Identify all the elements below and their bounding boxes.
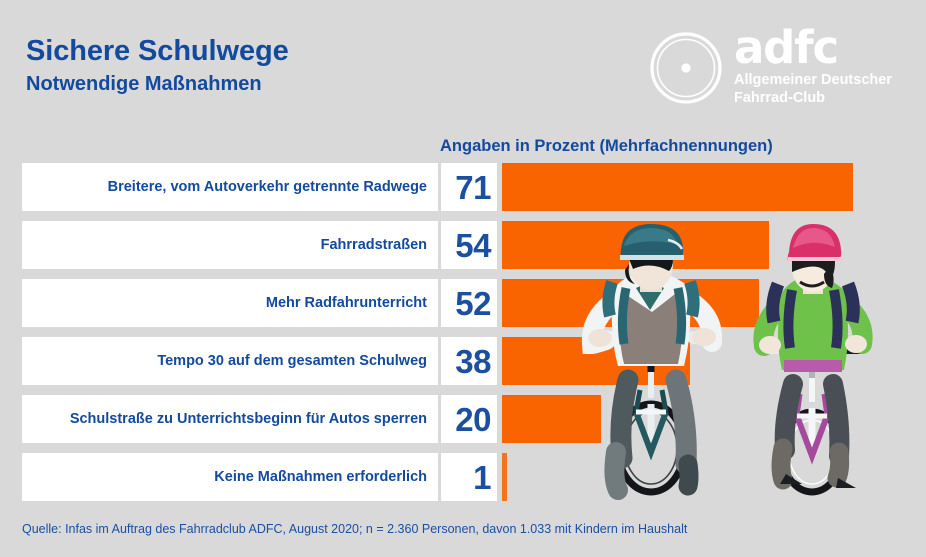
table-row: Mehr Radfahrunterricht 52 <box>0 279 926 327</box>
row-bar <box>502 163 853 211</box>
row-bar <box>502 453 507 501</box>
row-value-box: 1 <box>441 453 497 501</box>
table-row: Fahrradstraßen 54 <box>0 221 926 269</box>
row-value-text: 71 <box>455 171 491 204</box>
row-label-box: Tempo 30 auf dem gesamten Schulweg <box>22 337 438 385</box>
table-row: Breitere, vom Autoverkehr getrennte Radw… <box>0 163 926 211</box>
row-bar <box>502 337 690 385</box>
row-bar <box>502 395 601 443</box>
row-label-box: Keine Maßnahmen erforderlich <box>22 453 438 501</box>
row-label-box: Breitere, vom Autoverkehr getrennte Radw… <box>22 163 438 211</box>
infographic-canvas: Sichere Schulwege Notwendige Maßnahmen a… <box>0 0 926 557</box>
row-label-text: Keine Maßnahmen erforderlich <box>214 469 427 485</box>
row-label-text: Schulstraße zu Unterrichtsbeginn für Aut… <box>70 411 427 427</box>
row-label-box: Schulstraße zu Unterrichtsbeginn für Aut… <box>22 395 438 443</box>
adfc-tagline-line1: Allgemeiner Deutscher <box>734 72 910 89</box>
adfc-logo-text: adfc Allgemeiner Deutscher Fahrrad-Club <box>734 26 910 107</box>
row-value-box: 54 <box>441 221 497 269</box>
row-value-box: 20 <box>441 395 497 443</box>
page-subtitle: Notwendige Maßnahmen <box>26 72 626 96</box>
page-title: Sichere Schulwege <box>26 36 626 67</box>
table-row: Schulstraße zu Unterrichtsbeginn für Aut… <box>0 395 926 443</box>
row-value-text: 20 <box>455 403 491 436</box>
row-value-text: 52 <box>455 287 491 320</box>
adfc-tagline-line2: Fahrrad-Club <box>734 90 910 107</box>
row-value-box: 71 <box>441 163 497 211</box>
row-value-text: 38 <box>455 345 491 378</box>
row-bar <box>502 221 769 269</box>
table-row: Keine Maßnahmen erforderlich 1 <box>0 453 926 501</box>
row-value-box: 38 <box>441 337 497 385</box>
row-value-text: 1 <box>473 461 491 494</box>
row-label-text: Fahrradstraßen <box>321 237 427 253</box>
row-value-text: 54 <box>455 229 491 262</box>
row-label-text: Mehr Radfahrunterricht <box>266 295 427 311</box>
adfc-logo: adfc Allgemeiner Deutscher Fahrrad-Club <box>642 26 910 122</box>
row-label-text: Tempo 30 auf dem gesamten Schulweg <box>157 353 427 369</box>
source-note: Quelle: Infas im Auftrag des Fahrradclub… <box>22 522 687 536</box>
row-label-box: Mehr Radfahrunterricht <box>22 279 438 327</box>
row-label-text: Breitere, vom Autoverkehr getrennte Radw… <box>108 179 427 195</box>
row-bar <box>502 279 759 327</box>
bar-chart: Breitere, vom Autoverkehr getrennte Radw… <box>0 163 926 508</box>
table-row: Tempo 30 auf dem gesamten Schulweg 38 <box>0 337 926 385</box>
row-value-box: 52 <box>441 279 497 327</box>
bicycle-wheel-icon <box>648 30 724 106</box>
axis-caption: Angaben in Prozent (Mehrfachnennungen) <box>440 137 773 156</box>
header: Sichere Schulwege Notwendige Maßnahmen <box>26 36 626 96</box>
row-label-box: Fahrradstraßen <box>22 221 438 269</box>
adfc-wordmark: adfc <box>734 26 910 69</box>
